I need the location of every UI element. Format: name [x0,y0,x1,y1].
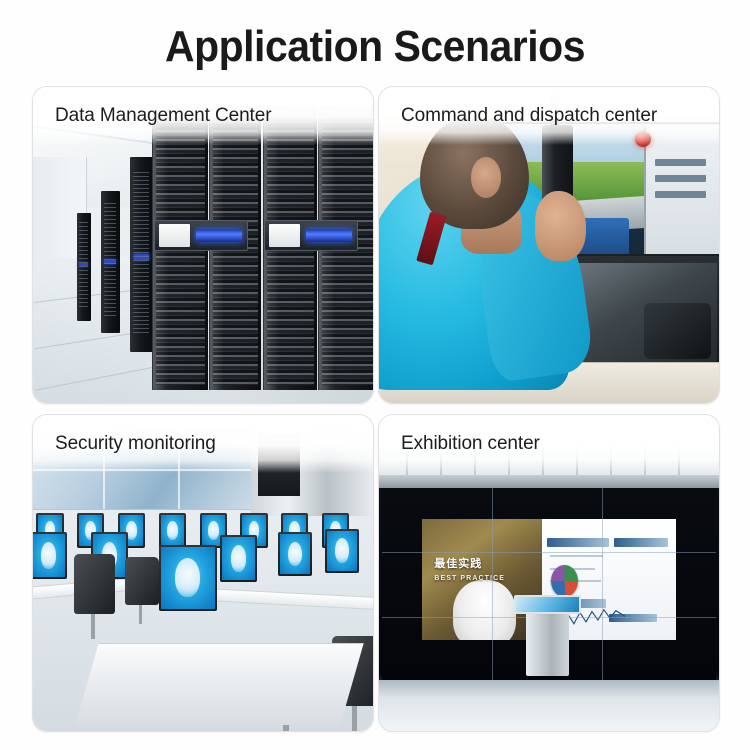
operator-ear [471,157,502,198]
office-chair [74,554,115,614]
distant-rack [101,191,120,333]
scenario-label-exhibition-center: Exhibition center [401,433,540,455]
server-rack-bank [152,106,373,390]
slide-title-cn: 最佳实践 [434,555,482,571]
scenario-label-command-and-dispatch-center: Command and dispatch center [401,105,657,127]
distant-rack [130,157,154,353]
rack-status-panel [154,220,248,251]
page-title: Application Scenarios [26,22,724,72]
card-label-band: Command and dispatch center [379,87,719,145]
card-label-band: Exhibition center [379,415,719,473]
scenario-card-security-monitoring[interactable]: Security monitoring [32,414,374,732]
scenario-card-grid: Data Management Center [32,86,720,732]
scenario-card-command-and-dispatch-center[interactable]: Command and dispatch center [378,86,720,404]
exhibition-floor [379,680,719,731]
scenario-label-security-monitoring: Security monitoring [55,433,216,455]
application-scenarios-page: Application Scenarios [0,0,750,750]
slide-title-en: BEST PRACTICE [434,575,505,582]
front-desk-surface [76,643,365,725]
operator-hand [535,191,586,261]
monitor [159,513,186,548]
coffee-cup-image [453,580,515,641]
scenario-label-data-management-center: Data Management Center [55,105,271,127]
rack-status-panel [264,220,358,251]
distant-rack [77,213,91,320]
monitor [33,532,67,579]
video-wall-display: 最佳实践 BEST PRACTICE [382,488,715,684]
wall-band [379,475,719,488]
scenario-card-data-management-center[interactable]: Data Management Center [32,86,374,404]
monitor [325,529,359,573]
pie-chart [551,565,578,597]
info-kiosk [526,609,569,676]
kiosk-screen [514,595,582,615]
scenario-card-exhibition-center[interactable]: 最佳实践 BEST PRACTICE [378,414,720,732]
card-label-band: Data Management Center [33,87,373,145]
monitor [220,535,257,582]
monitor-foreground [159,545,217,611]
monitor [278,532,312,576]
card-label-band: Security monitoring [33,415,373,473]
presentation-slide: 最佳实践 BEST PRACTICE [422,519,541,640]
office-chair [125,557,159,604]
